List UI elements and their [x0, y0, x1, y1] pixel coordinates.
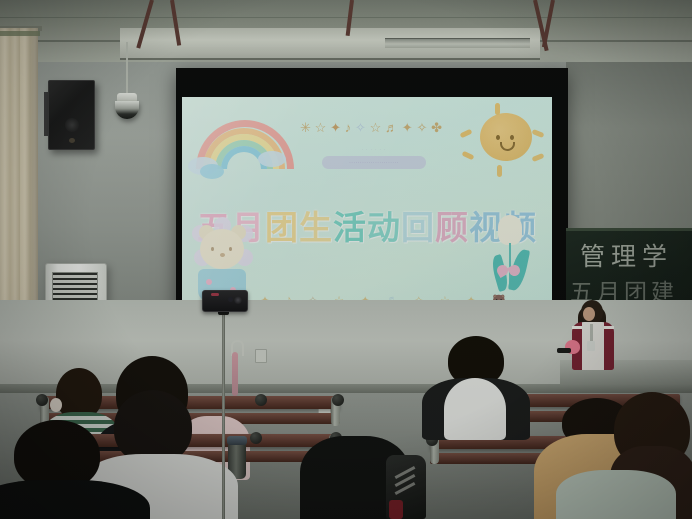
sparkle-decoration-row: ✳ ☆ ✦ ♪ ✧ ☆ ♬ ✦ ✧ ✤	[300, 115, 442, 139]
bottle-cap	[227, 436, 247, 445]
phone-accent	[211, 293, 219, 296]
blackboard-line-1: 管理学	[580, 237, 673, 273]
microphone	[557, 348, 571, 353]
presenter-face	[583, 307, 595, 321]
sun-ray	[497, 165, 502, 177]
slide-title-char: 动	[367, 208, 401, 247]
sun-ray	[462, 151, 475, 161]
sparkle-icon: ✤	[431, 121, 442, 134]
bench-knob	[332, 394, 344, 406]
sun-ray	[495, 103, 500, 115]
uniform-stripe	[572, 326, 582, 329]
camera-cable	[126, 42, 128, 96]
tulip-bloom	[498, 215, 522, 245]
sparkle-icon: ✧	[416, 121, 427, 134]
sun-ray	[460, 129, 473, 139]
slide-subtitle-badge: ·······················	[322, 156, 426, 169]
backpack-red-detail	[389, 500, 403, 519]
sparkle-icon: ✦	[402, 121, 413, 134]
speaker-tweeter-icon	[69, 138, 75, 143]
sparkle-icon: ✧	[355, 121, 366, 134]
classroom-scene: 21 ✳ ☆ ✦ ♪	[0, 0, 692, 519]
music-note-icon: ♪	[345, 121, 352, 134]
music-note-icon: ♬	[385, 121, 398, 134]
sparkle-icon: ☆	[315, 121, 327, 134]
rainbow-icon	[196, 117, 280, 169]
student-torso	[556, 470, 676, 519]
projected-slide: ✳ ☆ ✦ ♪ ✧ ☆ ♬ ✦ ✧ ✤ · · · · · · ········…	[182, 97, 552, 319]
cloud-icon	[200, 164, 224, 179]
sparkle-icon: ✳	[300, 121, 311, 134]
slide-title-char: 回	[401, 208, 435, 247]
screen-slot	[385, 38, 530, 48]
power-outlet	[255, 349, 267, 363]
sparkle-icon: ✦	[330, 121, 341, 134]
speaker-driver-icon	[65, 118, 79, 132]
ceiling-seam	[0, 17, 692, 18]
curtain-valance	[0, 31, 40, 36]
cloud-icon	[258, 151, 286, 167]
student-front-left-dark	[0, 420, 130, 519]
sun-icon	[480, 113, 532, 161]
right-wall-panel	[566, 60, 692, 230]
camera-lens-icon	[228, 297, 233, 302]
smartphone-on-tripod[interactable]	[202, 290, 248, 312]
lanyard	[590, 324, 593, 342]
slide-badge-text: ·······················	[349, 160, 399, 166]
slide-title-char: 活	[333, 208, 367, 247]
pink-pole-object	[232, 352, 238, 396]
uniform-stripe	[604, 326, 614, 329]
sun-ray	[532, 129, 545, 138]
star-icon: ☆	[370, 121, 382, 134]
student-torso	[0, 480, 150, 519]
sun-eye	[510, 135, 514, 140]
uniform-sleeve	[604, 322, 614, 370]
bench-knob	[255, 394, 267, 406]
student-mint-shirt	[556, 470, 676, 519]
projector-screen-housing	[120, 28, 540, 60]
bear-head	[200, 229, 244, 269]
sun-mouth	[500, 142, 515, 151]
student-raglan-baseball-tee	[422, 336, 530, 446]
slide-title-char: 顾	[435, 208, 469, 247]
slide-title-char: 生	[299, 208, 333, 247]
ribbon-bow-icon	[497, 265, 521, 277]
slide-title-char: 团	[265, 208, 299, 247]
id-badge	[587, 341, 595, 351]
sun-eye	[496, 135, 500, 140]
presenter-student	[569, 300, 617, 372]
camera-lens-icon	[234, 296, 242, 304]
slide-badge-caption: · · · · · ·	[332, 147, 416, 152]
wall-speaker	[48, 80, 95, 150]
tripod-stand	[222, 306, 225, 519]
bench-knob	[250, 432, 262, 444]
sun-ray	[532, 153, 545, 162]
